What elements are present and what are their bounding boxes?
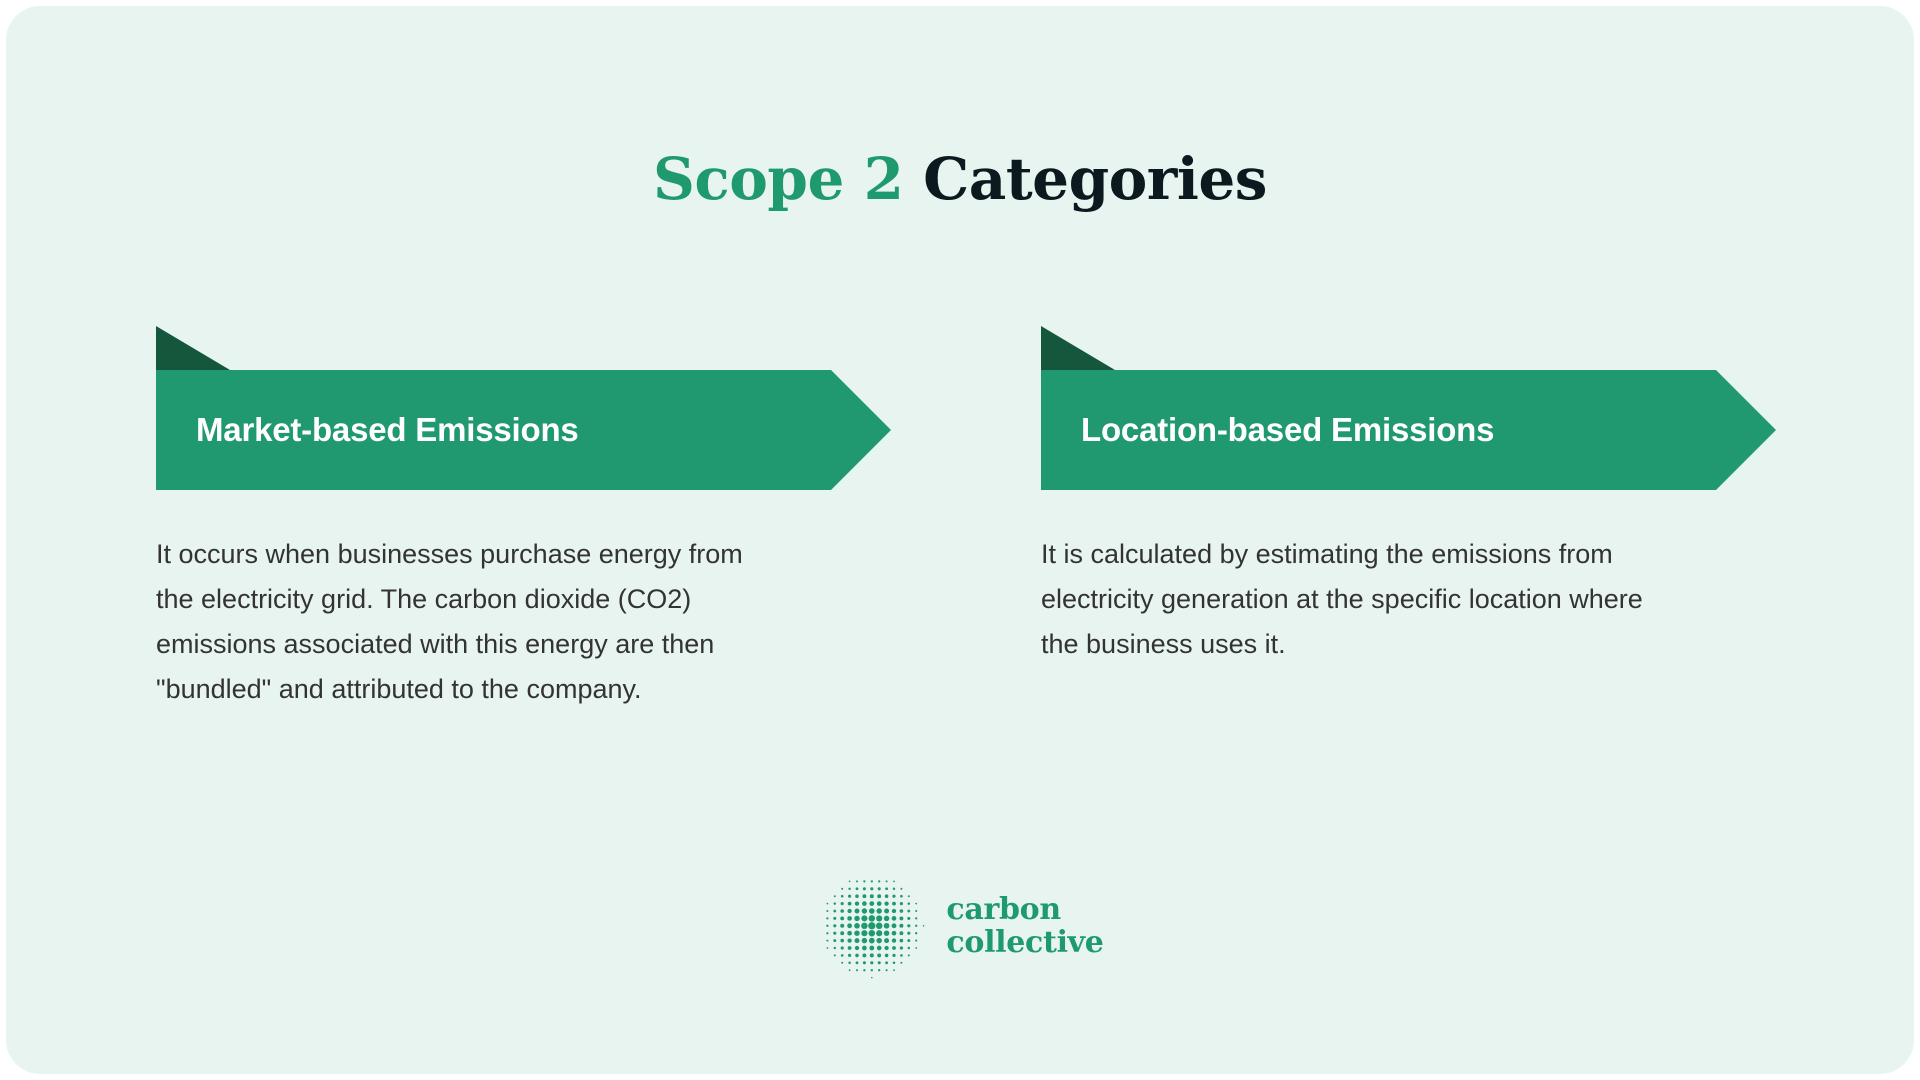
category-banner: Location-based Emissions: [1041, 370, 1776, 490]
brand-logo: carbon collective: [6, 870, 1914, 982]
brand-logo-line-1: carbon: [946, 893, 1103, 926]
infographic-card: Scope 2 Categories Market-based Emission…: [6, 6, 1914, 1074]
category-banner: Market-based Emissions: [156, 370, 891, 490]
page-title: Scope 2 Categories: [6, 150, 1914, 208]
title-container: Scope 2 Categories: [6, 150, 1914, 208]
halftone-circle-dots-icon: [816, 870, 928, 982]
ribbon-fold-icon: [1041, 326, 1115, 370]
category-description: It occurs when businesses purchase energ…: [156, 532, 786, 712]
page-title-main: Categories: [903, 145, 1267, 213]
ribbon-fold-icon: [156, 326, 230, 370]
page-title-accent: Scope 2: [653, 145, 903, 213]
categories-container: Market-based Emissions It occurs when bu…: [6, 326, 1914, 786]
brand-logo-text: carbon collective: [946, 893, 1103, 959]
brand-logo-line-2: collective: [946, 926, 1103, 959]
category-banner-label: Market-based Emissions: [156, 411, 579, 449]
category-description: It is calculated by estimating the emiss…: [1041, 532, 1671, 667]
category-banner-label: Location-based Emissions: [1041, 411, 1494, 449]
